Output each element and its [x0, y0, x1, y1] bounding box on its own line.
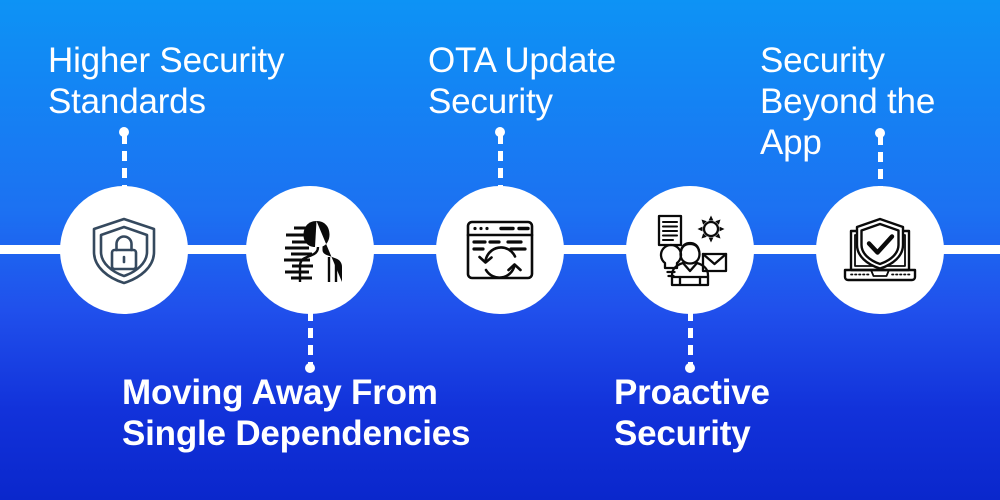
step-label-4: Proactive Security	[614, 372, 874, 454]
step-label-1: Higher Security Standards	[48, 40, 378, 122]
step-label-3: OTA Update Security	[428, 40, 698, 122]
person-document-lines-icon	[272, 212, 348, 288]
connector-stem-2	[308, 311, 313, 366]
browser-refresh-icon	[463, 213, 537, 287]
connector-stem-4	[688, 311, 693, 366]
connector-step-2	[305, 311, 315, 373]
connector-step-3	[495, 127, 505, 187]
connector-stem-1	[122, 134, 127, 187]
step-label-2: Moving Away From Single Dependencies	[122, 372, 542, 454]
connector-step-1	[119, 127, 129, 187]
connector-stem-5	[878, 135, 883, 187]
node-step-2[interactable]	[246, 186, 374, 314]
connector-step-5	[875, 128, 885, 187]
node-step-5[interactable]	[816, 186, 944, 314]
laptop-shield-check-icon	[841, 211, 919, 289]
person-gear-bulb-mail-icon	[651, 211, 729, 289]
connector-step-4	[685, 311, 695, 373]
node-step-1[interactable]	[60, 186, 188, 314]
connector-stem-3	[498, 134, 503, 187]
node-step-3[interactable]	[436, 186, 564, 314]
infographic-canvas: Higher Security Standards	[0, 0, 1000, 500]
shield-lock-icon	[86, 212, 162, 288]
node-step-4[interactable]	[626, 186, 754, 314]
